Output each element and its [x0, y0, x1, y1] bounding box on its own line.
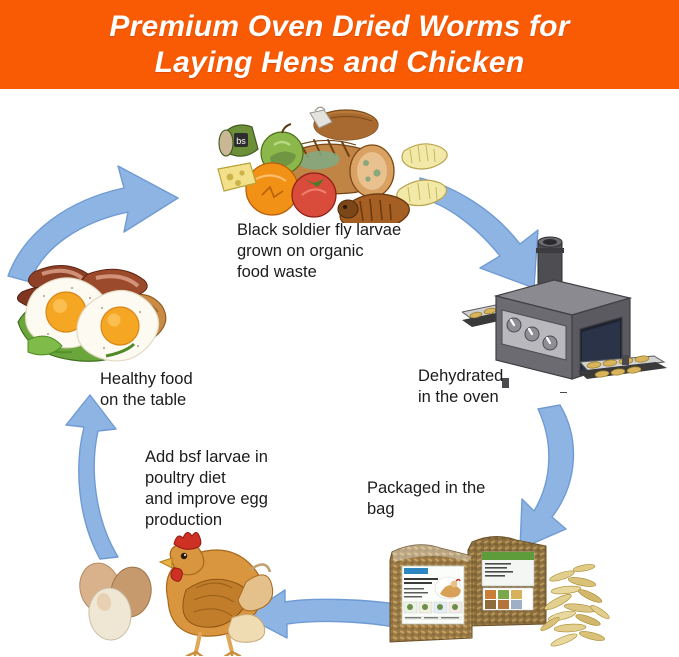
header-title-line-2: Laying Hens and Chicken: [155, 45, 525, 81]
image-fried-eggs-breakfast: [12, 252, 172, 370]
label-poultry: Add bsf larvae in poultry diet and impro…: [145, 447, 305, 531]
image-hen-and-eggs: [60, 528, 275, 656]
header-title-line-1: Premium Oven Dried Worms for: [109, 9, 569, 45]
infographic-page: Premium Oven Dried Worms for Laying Hens…: [0, 0, 679, 657]
svg-text:bs: bs: [236, 136, 246, 146]
label-packaging: Packaged in the bag: [367, 478, 527, 520]
label-oven: Dehydrated in the oven: [418, 366, 548, 408]
header-banner: Premium Oven Dried Worms for Laying Hens…: [0, 0, 679, 89]
label-table: Healthy food on the table: [100, 369, 240, 411]
image-bags-of-dried-larvae: [386, 528, 611, 652]
image-food-waste-with-larvae: bs: [214, 103, 449, 223]
label-food-waste: Black soldier fly larvae grown on organi…: [237, 220, 452, 283]
